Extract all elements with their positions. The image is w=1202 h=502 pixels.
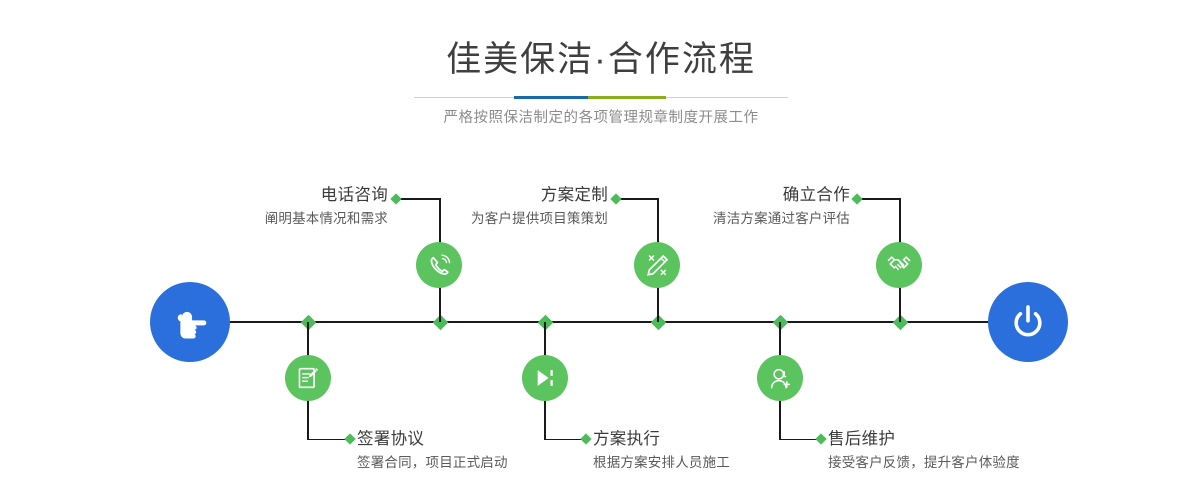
customer-service-add-icon — [767, 365, 794, 392]
page-subtitle: 严格按照保洁制定的各项管理规章制度开展工作 — [0, 106, 1202, 127]
step-icon-2[interactable] — [285, 355, 331, 401]
step-label-5: 确立合作 清洁方案通过客户评估 — [566, 184, 850, 229]
process-timeline: 电话咨询 阐明基本情况和需求 签署协议 签署合同，项目正式启动 — [0, 140, 1202, 502]
pointing-hand-icon — [168, 300, 212, 344]
title-divider — [414, 96, 788, 99]
timeline-end-node[interactable] — [988, 282, 1068, 362]
step-icon-1[interactable] — [416, 242, 462, 288]
divider-segment-blue — [514, 96, 588, 99]
timeline-axis — [228, 321, 1000, 323]
connector-elbow-step-5 — [857, 198, 900, 200]
handshake-icon — [885, 251, 913, 279]
infographic-canvas: 佳美保洁·合作流程 严格按照保洁制定的各项管理规章制度开展工作 — [0, 0, 1202, 502]
label-marker-step-5 — [851, 193, 862, 204]
step-icon-5[interactable] — [876, 242, 922, 288]
power-button-icon — [1007, 301, 1049, 343]
step-label-6: 售后维护 接受客户反馈，提升客户体验度 — [828, 428, 1158, 473]
document-sign-icon — [295, 365, 321, 391]
step-title-6: 售后维护 — [828, 428, 1158, 450]
timeline-start-node[interactable] — [150, 282, 230, 362]
step-title-5: 确立合作 — [566, 184, 850, 206]
step-icon-3[interactable] — [634, 242, 680, 288]
label-marker-step-2 — [344, 433, 355, 444]
page-title: 佳美保洁·合作流程 — [0, 38, 1202, 82]
step-desc-6: 接受客户反馈，提升客户体验度 — [828, 453, 1158, 473]
step-icon-6[interactable] — [757, 355, 803, 401]
divider-segment-green — [588, 96, 666, 99]
phone-call-icon — [426, 252, 453, 279]
step-icon-4[interactable] — [522, 355, 568, 401]
step-desc-5: 清洁方案通过客户评估 — [566, 209, 850, 229]
pencil-plan-icon — [644, 252, 671, 279]
header: 佳美保洁·合作流程 严格按照保洁制定的各项管理规章制度开展工作 — [0, 0, 1202, 140]
play-execute-icon — [532, 365, 558, 391]
